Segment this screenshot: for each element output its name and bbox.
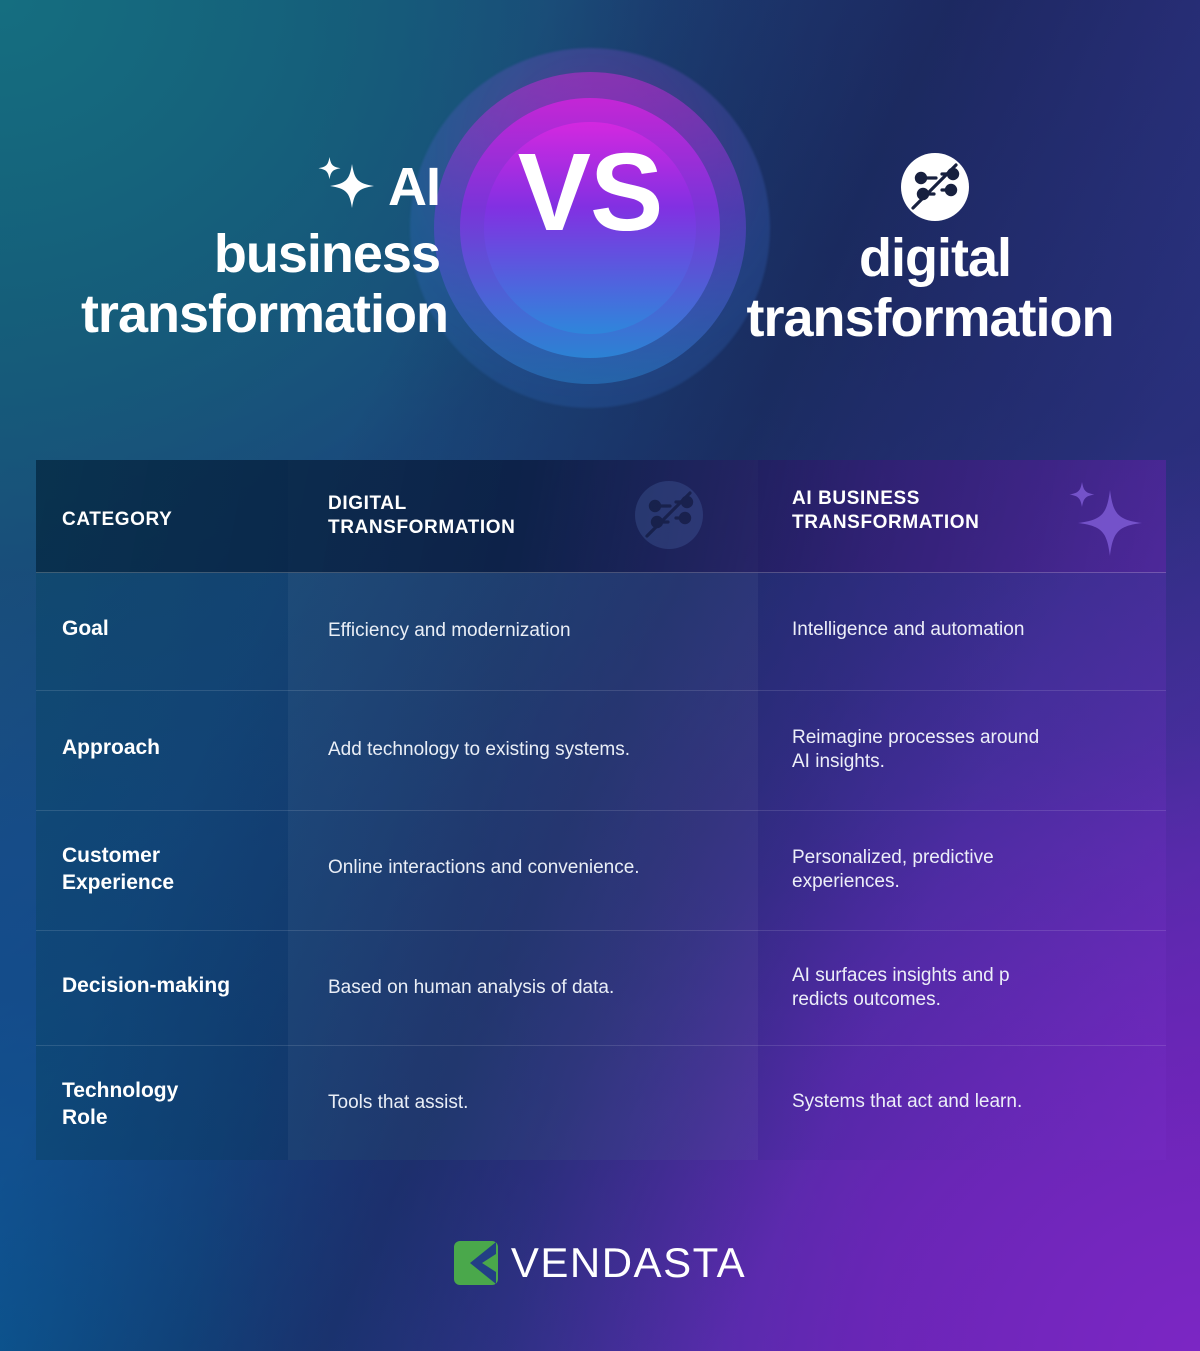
- table-row: Customer Experience Online interactions …: [36, 810, 1166, 930]
- row-ai-line1: Personalized, predictive: [792, 846, 1142, 870]
- column-header-digital-line1: DIGITAL: [328, 492, 515, 516]
- row-category: Customer Experience: [62, 843, 174, 897]
- row-category: Decision-making: [62, 973, 230, 1000]
- comparison-table: CATEGORY DIGITAL TRANSFORMATION: [36, 460, 1166, 1160]
- row-ai-line1: Reimagine processes around: [792, 726, 1142, 750]
- row-ai-line1: AI surfaces insights and p: [792, 964, 1142, 988]
- hero-right-line2: transformation: [690, 288, 1170, 348]
- row-category-line2: Experience: [62, 870, 174, 897]
- row-ai-value: AI surfaces insights and p redicts outco…: [792, 964, 1142, 1013]
- column-header-ai-line1: AI BUSINESS: [792, 487, 979, 511]
- row-digital-value: Add technology to existing systems.: [328, 737, 748, 762]
- vendasta-logo-mark-icon: [454, 1241, 498, 1285]
- row-ai-value: Reimagine processes around AI insights.: [792, 726, 1142, 775]
- row-category: Technology Role: [62, 1078, 178, 1132]
- column-header-digital-transformation: DIGITAL TRANSFORMATION: [328, 492, 515, 540]
- ai-sparkle-icon-watermark: [1054, 472, 1150, 568]
- hero-right-line1: digital: [700, 228, 1170, 288]
- table-row: Goal Efficiency and modernization Intell…: [36, 572, 1166, 690]
- hero-left-title: AI business transformation: [0, 150, 440, 345]
- row-category-line1: Technology: [62, 1078, 178, 1105]
- row-category-line1: Goal: [62, 616, 109, 643]
- row-category: Approach: [62, 735, 160, 762]
- row-digital-value: Efficiency and modernization: [328, 618, 748, 643]
- row-category: Goal: [62, 616, 109, 643]
- row-category-line2: Role: [62, 1105, 178, 1132]
- brand-footer: VENDASTA: [0, 1228, 1200, 1298]
- row-category-line1: Customer: [62, 843, 174, 870]
- row-ai-line1: Intelligence and automation: [792, 618, 1142, 642]
- row-ai-value: Systems that act and learn.: [792, 1090, 1142, 1114]
- column-header-ai-business-transformation: AI BUSINESS TRANSFORMATION: [792, 487, 979, 535]
- row-digital-value: Tools that assist.: [328, 1090, 748, 1115]
- hero-left-line1: AI: [388, 157, 440, 217]
- row-ai-line1: Systems that act and learn.: [792, 1090, 1142, 1114]
- hero-left-line2: business: [0, 224, 440, 284]
- brand-name: VENDASTA: [511, 1239, 746, 1287]
- row-category-line1: Decision-making: [62, 973, 230, 1000]
- circuit-node-icon: [898, 150, 972, 224]
- hero-right-title: digital transformation: [700, 150, 1170, 349]
- row-ai-line2: AI insights.: [792, 750, 1142, 774]
- table-row: Technology Role Tools that assist. Syste…: [36, 1045, 1166, 1160]
- row-category-line1: Approach: [62, 735, 160, 762]
- table-row: Approach Add technology to existing syst…: [36, 690, 1166, 810]
- column-header-ai-line2: TRANSFORMATION: [792, 511, 979, 535]
- hero-section: VS AI business transformation: [0, 0, 1200, 455]
- row-digital-value: Based on human analysis of data.: [328, 975, 748, 1000]
- table-header-row: CATEGORY DIGITAL TRANSFORMATION: [36, 460, 1166, 573]
- table-row: Decision-making Based on human analysis …: [36, 930, 1166, 1045]
- row-ai-value: Intelligence and automation: [792, 618, 1142, 642]
- row-ai-line2: redicts outcomes.: [792, 988, 1142, 1012]
- row-ai-value: Personalized, predictive experiences.: [792, 846, 1142, 895]
- column-header-category: CATEGORY: [62, 508, 172, 532]
- circuit-node-icon-watermark: [632, 478, 706, 552]
- infographic-page: VS AI business transformation: [0, 0, 1200, 1351]
- row-ai-line2: experiences.: [792, 870, 1142, 894]
- row-digital-value: Online interactions and convenience.: [328, 855, 748, 880]
- hero-left-line3: transformation: [0, 284, 448, 344]
- ai-sparkle-icon: [308, 150, 382, 224]
- column-header-digital-line2: TRANSFORMATION: [328, 516, 515, 540]
